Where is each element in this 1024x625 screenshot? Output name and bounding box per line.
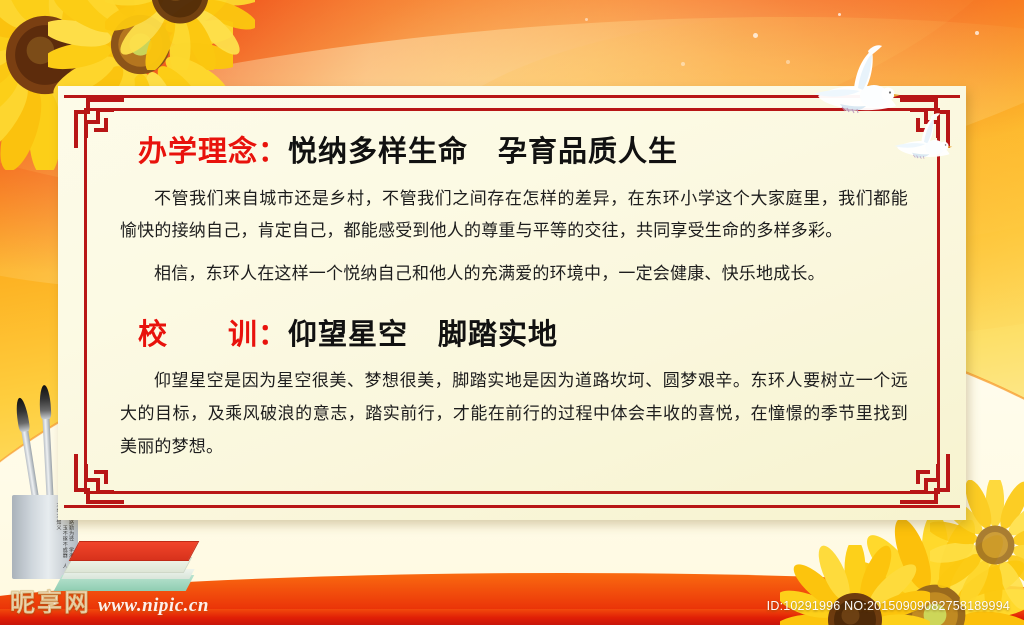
dove-icon (800, 44, 892, 114)
sparkle-dot (975, 31, 979, 35)
sparkle-dot (838, 13, 841, 16)
philosophy-heading: 办学理念：悦纳多样生命 孕育品质人生 (138, 134, 908, 169)
sparkle-dot (786, 60, 790, 64)
image-id-watermark: ID:10291996 NO:20150909082758189994 (767, 599, 1010, 613)
poster-canvas: 书山有路勤为径 学海无涯苦作舟 玉不琢不成器 人不学不知义 (0, 0, 1024, 625)
philosophy-heading-label: 办学理念： (138, 134, 288, 168)
section-motto: 校 训：仰望星空 脚踏实地 仰望星空是因为星空很美、梦想很美，脚踏实地是因为道路… (120, 317, 908, 464)
philosophy-paragraph-1: 不管我们来自城市还是乡村，不管我们之间存在怎样的差异，在东环小学这个大家庭里，我… (120, 183, 908, 248)
motto-heading: 校 训：仰望星空 脚踏实地 (138, 317, 908, 352)
sparkle-dot (753, 33, 758, 38)
meander-corner-icon (74, 98, 126, 150)
sparkle-dot (681, 62, 685, 66)
book-top-cover (69, 541, 200, 561)
section-philosophy: 办学理念：悦纳多样生命 孕育品质人生 不管我们来自城市还是乡村，不管我们之间存在… (120, 134, 908, 291)
book-stack (58, 525, 198, 591)
motto-heading-label: 校 训： (138, 317, 288, 351)
sunflower-icon (105, 0, 255, 70)
sunflower-icon (780, 545, 930, 625)
philosophy-paragraph-2: 相信，东环人在这样一个悦纳自己和他人的充满爱的环境中，一定会健康、快乐地成长。 (120, 258, 908, 291)
philosophy-heading-text: 悦纳多样生命 孕育品质人生 (288, 134, 678, 168)
site-watermark: 昵享网 www.nipic.cn (10, 583, 209, 619)
panel-content: 办学理念：悦纳多样生命 孕育品质人生 不管我们来自城市还是乡村，不管我们之间存在… (120, 112, 908, 494)
meander-corner-icon (74, 452, 126, 504)
motto-heading-text: 仰望星空 脚踏实地 (288, 317, 558, 351)
content-panel: 办学理念：悦纳多样生命 孕育品质人生 不管我们来自城市还是乡村，不管我们之间存在… (58, 86, 966, 520)
site-url: www.nipic.cn (98, 595, 209, 617)
site-name-cn: 昵享网 (10, 583, 91, 619)
dove-icon (885, 112, 947, 160)
motto-paragraph-1: 仰望星空是因为星空很美、梦想很美，脚踏实地是因为道路坎坷、圆梦艰辛。东环人要树立… (120, 365, 908, 463)
sparkle-dot (585, 18, 588, 21)
